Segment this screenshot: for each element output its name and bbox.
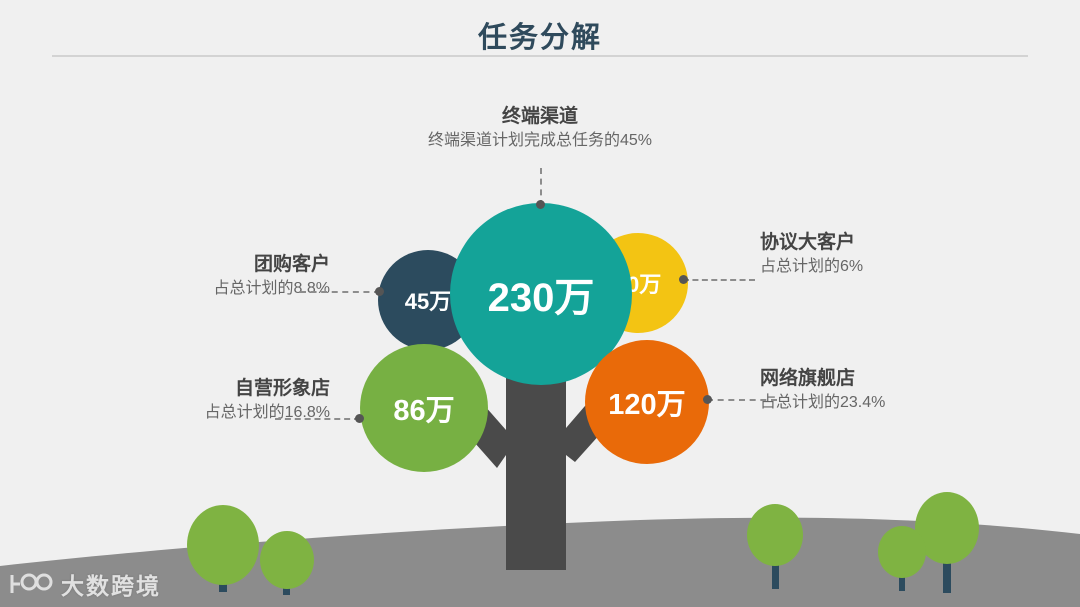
bubble-value-group-purchase: 45万 (405, 284, 451, 316)
slide-canvas: 任务分解 (0, 0, 1080, 607)
label-title-terminal-channel: 终端渠道 (0, 104, 1080, 130)
label-title-online-flagship-store: 网络旗舰店 (760, 366, 1070, 392)
label-title-group-purchase: 团购客户 (40, 252, 330, 278)
label-sub-terminal-channel: 终端渠道计划完成总任务的45% (0, 130, 1080, 152)
label-sub-online-flagship-store: 占总计划的23.4% (760, 392, 1070, 414)
watermark-logo-icon (8, 571, 54, 597)
bubble-value-online-flagship-store: 120万 (608, 381, 685, 423)
label-sub-self-operated-store: 占总计划的16.8% (30, 402, 330, 424)
bubble-value-self-operated-store: 86万 (393, 387, 454, 429)
label-terminal-channel: 终端渠道 终端渠道计划完成总任务的45% (0, 104, 1080, 152)
label-self-operated-store: 自营形象店 占总计划的16.8% (30, 376, 330, 424)
bubble-self-operated-store[interactable]: 86万 (360, 344, 488, 472)
bubble-value-terminal-channel: 230万 (488, 265, 595, 323)
label-title-agreement-key-account: 协议大客户 (760, 230, 1060, 256)
label-sub-group-purchase: 占总计划的8.8% (40, 278, 330, 300)
bubble-online-flagship-store[interactable]: 120万 (585, 340, 709, 464)
label-sub-agreement-key-account: 占总计划的6% (760, 256, 1060, 278)
label-title-self-operated-store: 自营形象店 (30, 376, 330, 402)
label-group-purchase: 团购客户 占总计划的8.8% (40, 252, 330, 300)
watermark: 大数跨境 (8, 567, 161, 601)
label-online-flagship-store: 网络旗舰店 占总计划的23.4% (760, 366, 1070, 414)
label-agreement-key-account: 协议大客户 占总计划的6% (760, 230, 1060, 278)
watermark-text: 大数跨境 (61, 567, 161, 601)
